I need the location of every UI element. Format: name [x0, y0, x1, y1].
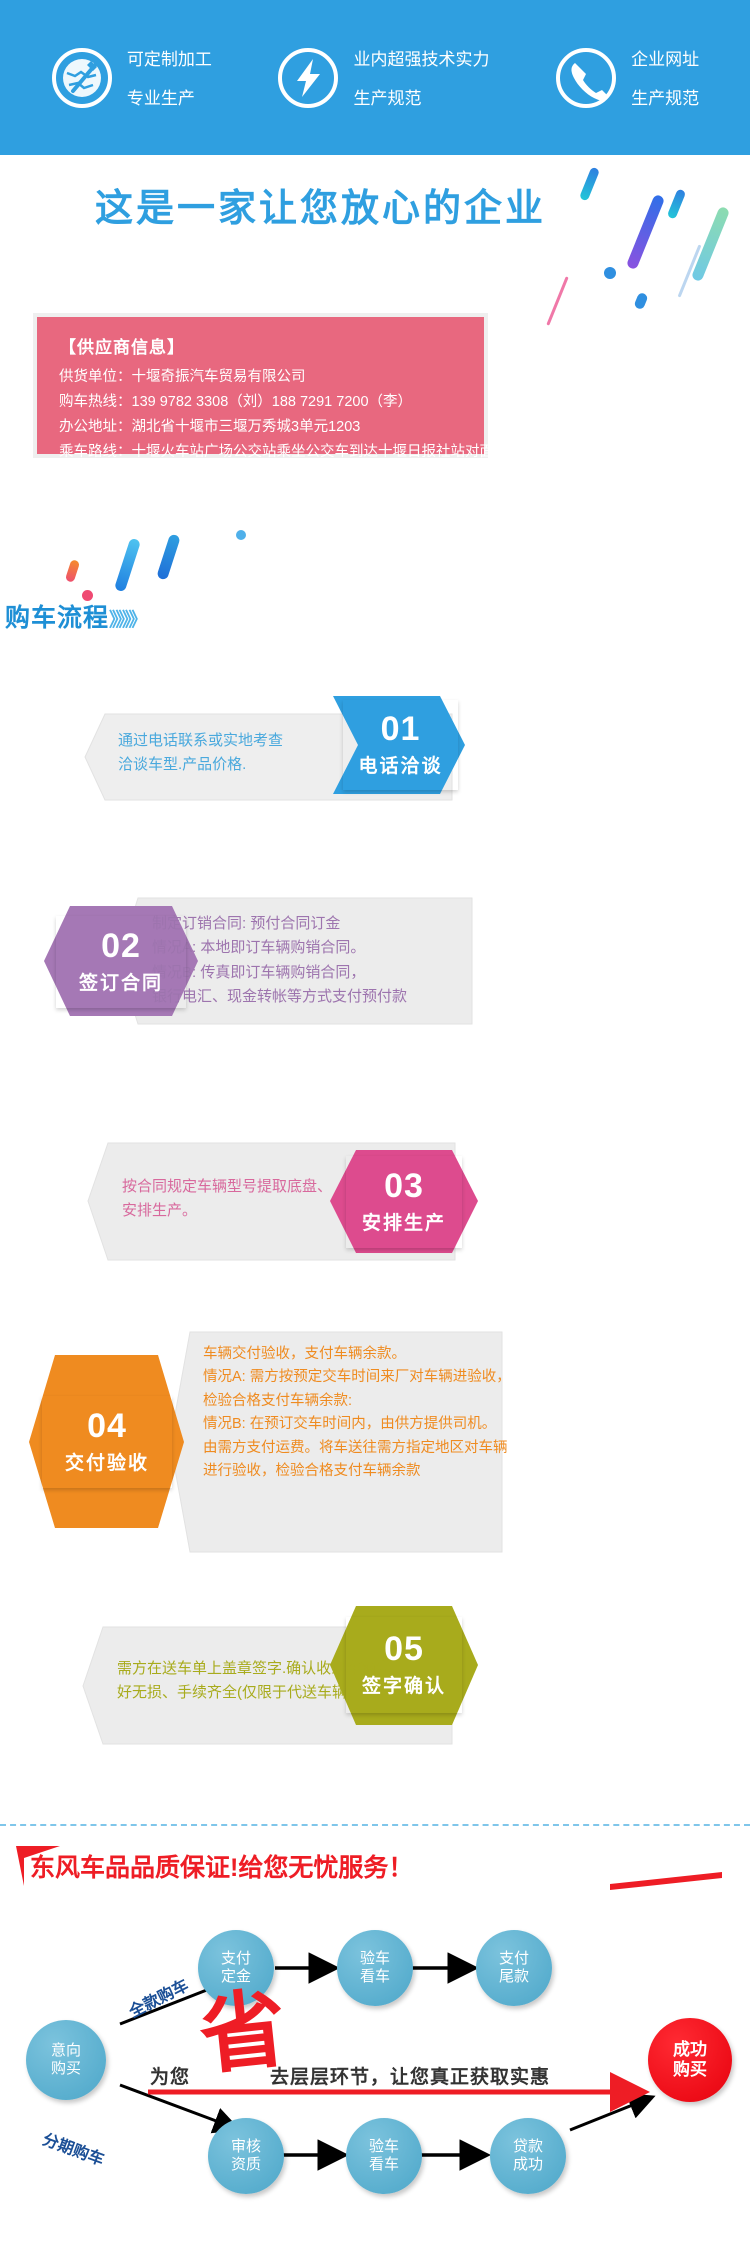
- feature-bar: 可定制加工 专业生产 业内超强技术实力 生产规范: [0, 0, 750, 155]
- process-step-03-caption: 安排生产: [362, 1208, 446, 1235]
- process-step-04-caption: 交付验收: [65, 1448, 149, 1475]
- flow-node-bottom-0-line2: 资质: [231, 2156, 261, 2174]
- process-section-title: 购车流程》》》》: [5, 598, 145, 634]
- decor-dash-orange: [65, 559, 80, 583]
- decor-stroke-3: [626, 194, 665, 270]
- supplier-line-hotline: 购车热线：139 9782 3308（刘）188 7291 7200（李）: [59, 390, 484, 415]
- flow-node-top-0-line1: 支付: [221, 1950, 251, 1968]
- supplier-line-route: 乘车路线：十堰火车站广场公交站乘坐公交车到达十堰日报社站对面万秀城。: [59, 440, 484, 465]
- flow-node-bottom-0: 审核 资质: [208, 2118, 284, 2194]
- guarantee-headline: 东风车品品质保证!给您无忧服务！: [30, 1848, 413, 1884]
- decor-dot-1: [604, 267, 616, 279]
- process-step-04-number: 04: [87, 1409, 127, 1443]
- process-section-title-text: 购车流程: [5, 604, 109, 632]
- process-step-04-line-1: 情况A: 需方按预定交车时间来厂对车辆进验收，: [203, 1366, 511, 1389]
- page-root: 可定制加工 专业生产 业内超强技术实力 生产规范: [0, 0, 750, 2253]
- decor-stroke-6: [546, 276, 568, 325]
- process-step-04-line-5: 进行验收，检验合格支付车辆余款: [203, 1460, 511, 1483]
- flow-node-bottom-1: 验车 看车: [346, 2118, 422, 2194]
- process-step-04-line-2: 检验合格支付车辆余款:: [203, 1390, 511, 1413]
- feature-item-0-line1: 可定制加工: [127, 51, 212, 68]
- supplier-box-title: 【供应商信息】: [59, 333, 484, 358]
- flow-node-end: 成功 购买: [648, 2018, 732, 2102]
- flow-node-top-1-line1: 验车: [360, 1950, 390, 1968]
- process-step-05-badge: 05 签字确认: [346, 1617, 462, 1713]
- flow-node-bottom-1-line1: 验车: [369, 2138, 399, 2156]
- process-step-02-line-0: 制定订销合同: 预付合同订金: [152, 912, 407, 936]
- feature-item-1: 业内超强技术实力 生产规范: [277, 47, 489, 109]
- process-step-05-caption: 签字确认: [362, 1671, 446, 1698]
- flow-node-top-1-line2: 看车: [360, 1968, 390, 1986]
- slogan-suffix: 去层层环节，让您真正获取实惠: [270, 2062, 550, 2089]
- process-step-01-number: 01: [381, 712, 421, 746]
- feature-item-2-line1: 企业网址: [631, 51, 699, 68]
- feature-item-0: 可定制加工 专业生产: [51, 47, 212, 109]
- flow-node-bottom-2: 贷款 成功: [490, 2118, 566, 2194]
- feature-item-0-line2: 专业生产: [127, 90, 212, 107]
- process-step-03-line-0: 按合同规定车辆型号提取底盘、: [122, 1175, 332, 1199]
- globe-hammer-icon: [51, 47, 113, 109]
- decor-dot-2: [633, 292, 648, 311]
- process-step-01-text: 通过电话联系或实地考查 洽谈车型.产品价格.: [118, 729, 283, 778]
- process-step-01-line-1: 洽谈车型.产品价格.: [118, 753, 283, 777]
- process-step-02-line-1: 情况A: 本地即订车辆购销合同。: [152, 936, 407, 960]
- process-step-04-line-0: 车辆交付验收，支付车辆余款。: [203, 1343, 511, 1366]
- process-step-02-line-3: 银行电汇、现金转帐等方式支付预付款: [152, 985, 407, 1009]
- feature-item-2-text: 企业网址 生产规范: [631, 49, 699, 107]
- process-step-02-number: 02: [101, 929, 141, 963]
- flow-node-top-2: 支付 尾款: [476, 1930, 552, 2006]
- process-step-01-line-0: 通过电话联系或实地考查: [118, 729, 283, 753]
- flow-node-top-2-line2: 尾款: [499, 1968, 529, 1986]
- flow-node-bottom-1-line2: 看车: [369, 2156, 399, 2174]
- supplier-info-box: 【供应商信息】 供货单位：十堰奇振汽车贸易有限公司 购车热线：139 9782 …: [33, 313, 488, 458]
- process-step-02-text: 制定订销合同: 预付合同订金 情况A: 本地即订车辆购销合同。 情况B: 传真即…: [152, 912, 407, 1009]
- process-step-03-line-1: 安排生产。: [122, 1199, 332, 1223]
- feature-item-1-line1: 业内超强技术实力: [353, 51, 489, 68]
- process-step-01-badge: 01 电话洽谈: [343, 700, 458, 790]
- supplier-line-company: 供货单位：十堰奇振汽车贸易有限公司: [59, 365, 484, 390]
- process-section-chevrons: 》》》》: [109, 610, 145, 631]
- flow-node-start: 意向 购买: [26, 2020, 106, 2100]
- page-title: 这是一家让您放心的企业: [95, 177, 546, 232]
- decor-dash-blue-2: [156, 533, 181, 580]
- process-step-04-line-4: 由需方支付运费。将车送往需方指定地区对车辆: [203, 1437, 511, 1460]
- flow-node-start-line1: 意向: [51, 2042, 81, 2060]
- feature-item-2-line2: 生产规范: [631, 90, 699, 107]
- decor-stroke-4: [691, 206, 730, 282]
- telephone-icon: [555, 47, 617, 109]
- flow-node-end-line2: 购买: [673, 2060, 707, 2080]
- decor-stroke-1: [579, 167, 600, 202]
- feature-item-1-text: 业内超强技术实力 生产规范: [353, 49, 489, 107]
- lightning-bolt-icon: [277, 47, 339, 109]
- flow-node-start-line2: 购买: [51, 2060, 81, 2078]
- flow-node-bottom-2-line1: 贷款: [513, 2138, 543, 2156]
- flow-node-top-1: 验车 看车: [337, 1930, 413, 2006]
- branch-label-full-payment: 全款购车: [124, 1972, 192, 2022]
- feature-item-2: 企业网址 生产规范: [555, 47, 699, 109]
- process-step-03-text: 按合同规定车辆型号提取底盘、 安排生产。: [122, 1175, 332, 1224]
- slogan-prefix: 为您: [150, 2062, 190, 2089]
- process-step-01-caption: 电话洽谈: [358, 751, 442, 778]
- feature-item-0-text: 可定制加工 专业生产: [127, 49, 212, 107]
- section-divider: [0, 1824, 750, 1826]
- branch-label-installment: 分期购车: [40, 2126, 108, 2170]
- decor-stroke-2: [667, 188, 687, 219]
- decor-dot-blue: [236, 530, 246, 540]
- process-step-03-number: 03: [384, 1169, 424, 1203]
- process-step-02-caption: 签订合同: [79, 968, 163, 995]
- supplier-line-address: 办公地址：湖北省十堰市三堰万秀城3单元1203: [59, 415, 484, 440]
- process-step-04-text: 车辆交付验收，支付车辆余款。 情况A: 需方按预定交车时间来厂对车辆进验收， 检…: [203, 1343, 511, 1484]
- process-step-02-line-2: 情况B: 传真即订车辆购销合同，: [152, 961, 407, 985]
- feature-item-1-line2: 生产规范: [353, 90, 489, 107]
- process-step-04-badge: 04 交付验收: [42, 1396, 172, 1488]
- decor-dash-blue-1: [114, 538, 141, 593]
- process-step-05-number: 05: [384, 1632, 424, 1666]
- process-step-03-badge: 03 安排生产: [346, 1156, 462, 1248]
- flow-node-bottom-2-line2: 成功: [513, 2156, 543, 2174]
- flow-node-top-2-line1: 支付: [499, 1950, 529, 1968]
- flow-node-end-line1: 成功: [673, 2040, 707, 2060]
- process-step-02-badge: 02 签订合同: [56, 916, 186, 1008]
- flow-node-bottom-0-line1: 审核: [231, 2138, 261, 2156]
- process-step-04-line-3: 情况B: 在预订交车时间内，由供方提供司机。: [203, 1413, 511, 1436]
- headline-section: 这是一家让您放心的企业: [0, 155, 750, 260]
